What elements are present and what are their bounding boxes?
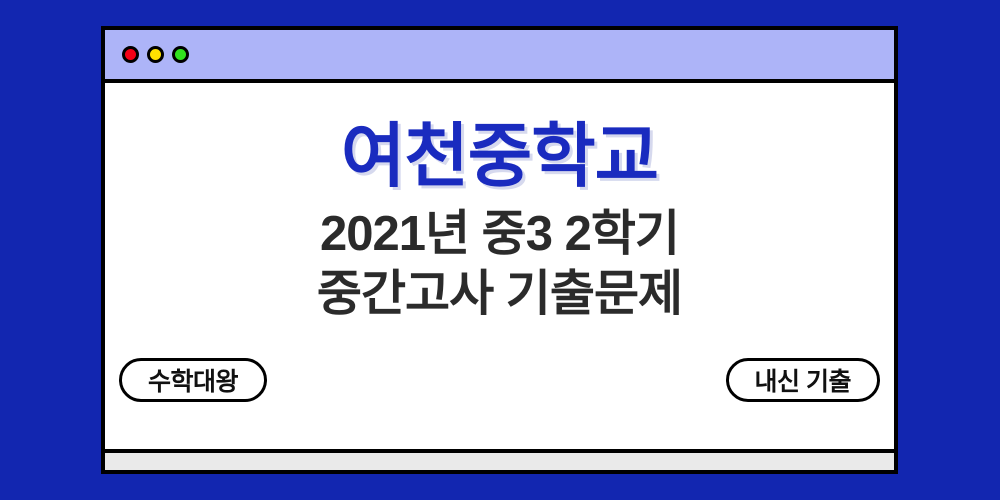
poster-canvas: 여천중학교 2021년 중3 2학기 중간고사 기출문제 수학대왕 내신 기출: [0, 0, 1000, 500]
window-content: 여천중학교 2021년 중3 2학기 중간고사 기출문제 수학대왕 내신 기출: [105, 83, 894, 449]
close-dot-icon[interactable]: [122, 46, 139, 63]
window-footer-bar: [105, 449, 894, 470]
subtitle-line-1: 2021년 중3 2학기: [317, 205, 682, 265]
school-name-title: 여천중학교: [341, 121, 658, 191]
window-controls: [122, 46, 189, 63]
maximize-dot-icon[interactable]: [172, 46, 189, 63]
minimize-dot-icon[interactable]: [147, 46, 164, 63]
badge-brand[interactable]: 수학대왕: [119, 358, 267, 402]
exam-subtitle: 2021년 중3 2학기 중간고사 기출문제: [317, 205, 682, 325]
badge-category[interactable]: 내신 기출: [726, 358, 880, 402]
subtitle-line-2: 중간고사 기출문제: [317, 265, 682, 325]
badge-row: 수학대왕 내신 기출: [105, 358, 894, 402]
browser-window-frame: 여천중학교 2021년 중3 2학기 중간고사 기출문제 수학대왕 내신 기출: [101, 26, 898, 474]
window-titlebar: [105, 30, 894, 83]
